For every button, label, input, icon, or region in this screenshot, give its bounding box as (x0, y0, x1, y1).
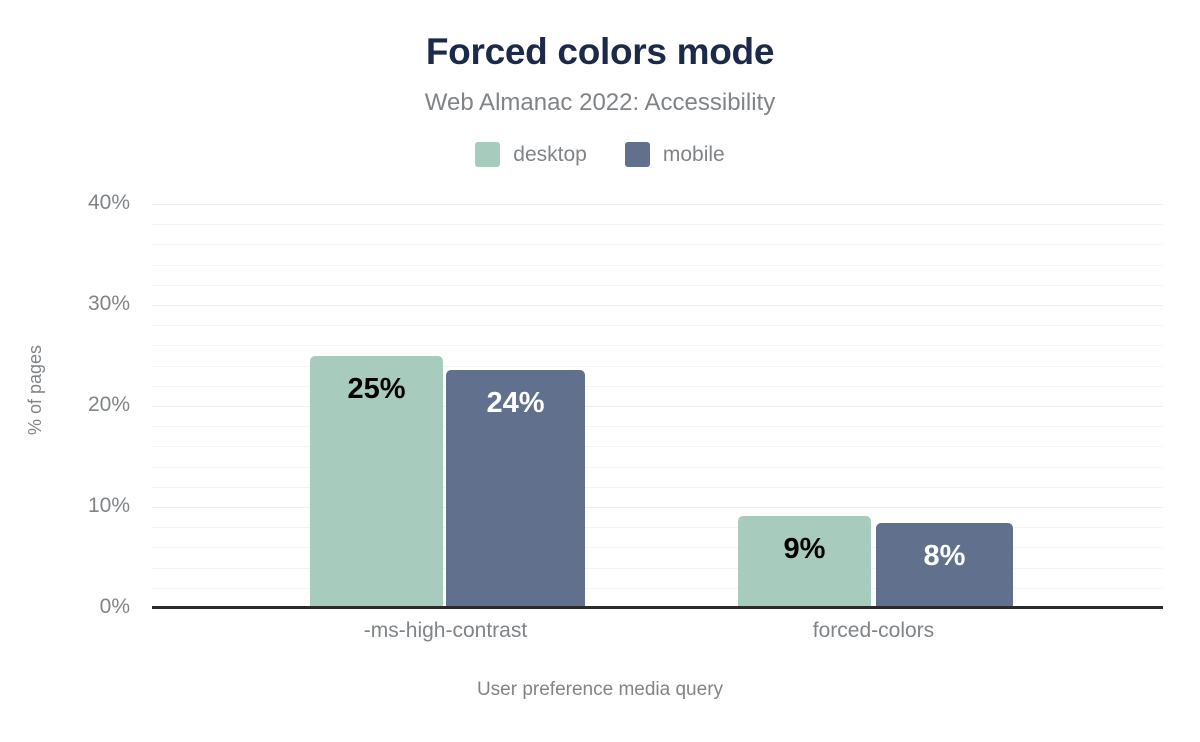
bar-value-desktop-forced-colors: 9% (784, 516, 826, 564)
chart-title: Forced colors mode (0, 32, 1200, 73)
legend-item-mobile[interactable]: mobile (625, 142, 725, 167)
x-axis-line (152, 606, 1163, 609)
y-tick-label-30: 30% (0, 293, 130, 314)
bar-value-desktop--ms-high-contrast: 25% (347, 356, 405, 404)
bar-desktop--ms-high-contrast[interactable]: 25% (310, 356, 443, 608)
bar-value-mobile--ms-high-contrast: 24% (486, 370, 544, 418)
bar-mobile--ms-high-contrast[interactable]: 24% (446, 370, 585, 608)
y-tick-label-0: 0% (0, 596, 130, 617)
chart-subtitle: Web Almanac 2022: Accessibility (0, 90, 1200, 116)
bar-desktop-forced-colors[interactable]: 9% (738, 516, 871, 608)
chart-container: Forced colors mode Web Almanac 2022: Acc… (0, 0, 1200, 742)
y-tick-label-40: 40% (0, 192, 130, 213)
legend-label-desktop: desktop (513, 144, 587, 165)
legend-item-desktop[interactable]: desktop (475, 142, 587, 167)
legend-swatch-mobile (625, 142, 650, 167)
bar-mobile-forced-colors[interactable]: 8% (876, 523, 1013, 608)
legend-swatch-desktop (475, 142, 500, 167)
bars-layer: 25% 24% 9% 8% (152, 204, 1163, 608)
x-tick-label-forced-colors: forced-colors (721, 620, 1026, 641)
plot-area: 25% 24% 9% 8% (152, 204, 1163, 608)
y-axis-title: % of pages (26, 290, 44, 490)
bar-value-mobile-forced-colors: 8% (924, 523, 966, 571)
chart-legend: desktop mobile (0, 142, 1200, 167)
y-tick-label-20: 20% (0, 394, 130, 415)
y-tick-label-10: 10% (0, 495, 130, 516)
x-axis-title: User preference media query (0, 680, 1200, 699)
x-tick-label--ms-high-contrast: -ms-high-contrast (293, 620, 598, 641)
legend-label-mobile: mobile (663, 144, 725, 165)
